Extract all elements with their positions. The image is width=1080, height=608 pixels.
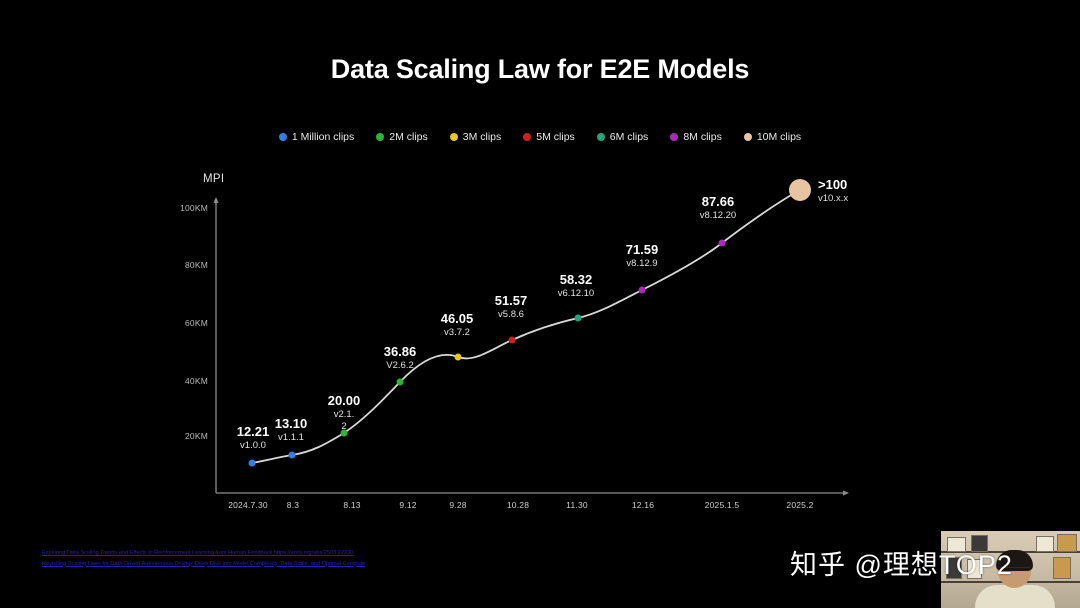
y-tick-100km: 100KM xyxy=(168,203,208,213)
legend-item-6m: 6M clips xyxy=(597,131,649,143)
legend-item-2m: 2M clips xyxy=(376,131,428,143)
legend-label-3m: 3M clips xyxy=(463,131,502,143)
legend-swatch-8m xyxy=(670,133,678,141)
annotation-point-6: 58.32 v6.12.10 xyxy=(531,273,621,300)
legend-swatch-10m xyxy=(744,133,752,141)
annotation-point-2: 20.00 v2.1. 2 xyxy=(327,394,361,433)
annotation-value-3: 36.86 xyxy=(355,345,445,360)
annotation-point-3: 36.86 V2.6.2 xyxy=(355,345,445,372)
annotation-version-7: v8.12.9 xyxy=(597,259,687,270)
legend-item-1m: 1 Million clips xyxy=(279,131,354,143)
annotation-version-3: V2.6.2 xyxy=(355,361,445,372)
y-tick-60km: 60KM xyxy=(168,318,208,328)
wall-frame-3 xyxy=(1036,536,1054,552)
legend-item-10m: 10M clips xyxy=(744,131,801,143)
annotation-point-1: 13.10 v1.1.1 xyxy=(246,417,336,444)
footnote-link-1[interactable]: Exploring Data Scaling Trends and Effect… xyxy=(42,548,365,559)
x-tick-9: 2025.2 xyxy=(765,500,835,510)
footnote-link-2[interactable]: Revisiting Scaling Laws for Data-Driven … xyxy=(42,559,365,570)
legend-label-2m: 2M clips xyxy=(389,131,428,143)
legend-item-5m: 5M clips xyxy=(523,131,575,143)
data-point-0[interactable] xyxy=(249,460,256,467)
shelf-object-3 xyxy=(1053,557,1071,579)
wall-frame-4 xyxy=(1057,534,1077,552)
legend-swatch-2m xyxy=(376,133,384,141)
annotation-version-1: v1.1.1 xyxy=(246,433,336,444)
x-tick-7: 12.16 xyxy=(608,500,678,510)
legend-item-8m: 8M clips xyxy=(670,131,722,143)
annotation-point-9: >100 v10.x.x xyxy=(818,178,888,205)
data-point-8[interactable] xyxy=(719,240,726,247)
annotation-value-9: >100 xyxy=(818,178,888,193)
y-tick-80km: 80KM xyxy=(168,260,208,270)
legend-label-8m: 8M clips xyxy=(683,131,722,143)
legend-label-1m: 1 Million clips xyxy=(292,131,354,143)
annotation-version-2-line2: 2 xyxy=(327,422,361,433)
data-point-4[interactable] xyxy=(455,354,462,361)
chart-legend: 1 Million clips 2M clips 3M clips 5M cli… xyxy=(0,131,1080,143)
annotation-value-7: 71.59 xyxy=(597,243,687,258)
annotation-value-6: 58.32 xyxy=(531,273,621,288)
data-point-5[interactable] xyxy=(509,337,516,344)
slide-canvas: Data Scaling Law for E2E Models 1 Millio… xyxy=(0,0,1080,608)
data-point-9[interactable] xyxy=(789,179,811,201)
legend-swatch-3m xyxy=(450,133,458,141)
annotation-version-2-line1: v2.1. xyxy=(327,410,361,421)
data-point-6[interactable] xyxy=(575,315,582,322)
page-title: Data Scaling Law for E2E Models xyxy=(0,54,1080,85)
annotation-value-8: 87.66 xyxy=(673,195,763,210)
footnote-links: Exploring Data Scaling Trends and Effect… xyxy=(42,548,365,569)
annotation-version-9: v10.x.x xyxy=(818,194,888,205)
annotation-version-6: v6.12.10 xyxy=(531,289,621,300)
x-tick-8: 2025.1.5 xyxy=(687,500,757,510)
legend-swatch-5m xyxy=(523,133,531,141)
watermark-text: 知乎 @理想TOP2 xyxy=(790,543,1013,582)
annotation-value-1: 13.10 xyxy=(246,417,336,432)
data-point-3[interactable] xyxy=(397,379,404,386)
data-point-7[interactable] xyxy=(639,287,646,294)
annotation-point-7: 71.59 v8.12.9 xyxy=(597,243,687,270)
y-axis-title: MPI xyxy=(203,173,224,185)
legend-label-5m: 5M clips xyxy=(536,131,575,143)
legend-label-10m: 10M clips xyxy=(757,131,801,143)
annotation-version-8: v8.12.20 xyxy=(673,211,763,222)
data-point-1[interactable] xyxy=(289,452,296,459)
x-tick-6: 11.30 xyxy=(542,500,612,510)
legend-label-6m: 6M clips xyxy=(610,131,649,143)
legend-item-3m: 3M clips xyxy=(450,131,502,143)
annotation-version-4: v3.7.2 xyxy=(412,328,502,339)
y-tick-40km: 40KM xyxy=(168,376,208,386)
legend-swatch-1m xyxy=(279,133,287,141)
annotation-value-2: 20.00 xyxy=(327,394,361,409)
y-tick-20km: 20KM xyxy=(168,431,208,441)
person-body xyxy=(975,585,1055,608)
legend-swatch-6m xyxy=(597,133,605,141)
annotation-version-5: v5.8.6 xyxy=(466,310,556,321)
annotation-point-8: 87.66 v8.12.20 xyxy=(673,195,763,222)
